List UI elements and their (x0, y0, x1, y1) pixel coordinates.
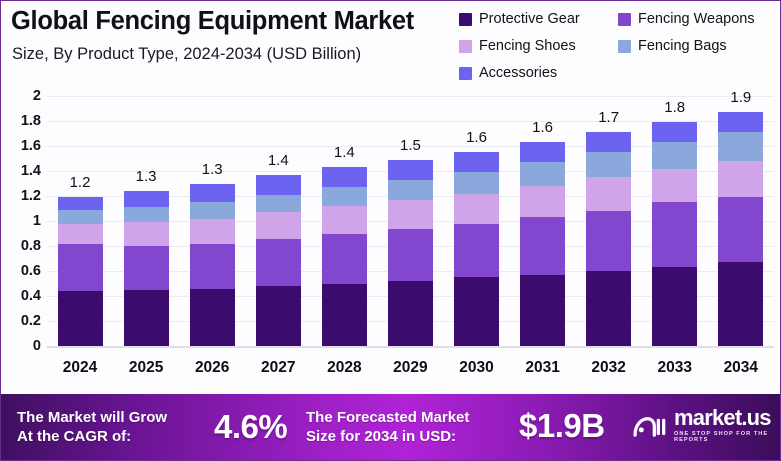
y-axis-tick-label: 0.8 (21, 238, 41, 254)
bar-stack (520, 142, 565, 346)
bar-segment[interactable] (652, 267, 697, 346)
bar-segment[interactable] (718, 197, 763, 262)
bar-segment[interactable] (124, 191, 169, 207)
bar-value-label: 1.4 (247, 152, 309, 169)
bar-segment[interactable] (256, 175, 301, 195)
bar-value-label: 1.2 (49, 174, 111, 191)
y-axis-tick-label: 0 (33, 338, 41, 354)
bar-value-label: 1.6 (446, 129, 508, 146)
chart-header: Global Fencing Equipment Market Size, By… (1, 1, 781, 93)
legend-item[interactable]: Fencing Weapons (618, 11, 777, 27)
bar-segment[interactable] (388, 229, 433, 282)
y-axis-tick-label: 1 (33, 213, 41, 229)
bar-segment[interactable] (124, 222, 169, 246)
cagr-caption-line1: The Market will Grow (17, 408, 167, 427)
bar-segment[interactable] (652, 202, 697, 267)
bar-segment[interactable] (58, 197, 103, 210)
bar-segment[interactable] (718, 112, 763, 132)
y-axis-tick-label: 0.6 (21, 263, 41, 279)
x-axis-tick-label: 2026 (181, 350, 243, 384)
y-axis-tick-label: 0.2 (21, 313, 41, 329)
bar-segment[interactable] (388, 160, 433, 180)
bar-segment[interactable] (520, 217, 565, 275)
x-axis-tick-label: 2033 (644, 350, 706, 384)
x-axis-tick-label: 2029 (379, 350, 441, 384)
brand-name: market.us (674, 407, 781, 429)
bar-segment[interactable] (322, 284, 367, 347)
bar-value-label: 1.3 (181, 161, 243, 178)
bar-value-label: 1.4 (313, 144, 375, 161)
bar-segment[interactable] (190, 244, 235, 289)
market-us-mark-icon (633, 412, 666, 439)
bar-segment[interactable] (718, 262, 763, 346)
bar-segment[interactable] (520, 275, 565, 346)
bar-stack (322, 167, 367, 346)
bar-group[interactable]: 1.7 (578, 96, 640, 346)
chart-plot-area: 21.81.61.41.210.80.60.40.20 1.21.31.31.4… (1, 96, 781, 391)
bar-segment[interactable] (124, 246, 169, 290)
bar-value-label: 1.6 (512, 119, 574, 136)
bar-segment[interactable] (58, 244, 103, 292)
bar-segment[interactable] (256, 212, 301, 238)
bar-stack (124, 191, 169, 346)
legend-item[interactable]: Accessories (459, 65, 618, 81)
bar-segment[interactable] (388, 281, 433, 346)
bar-group[interactable]: 1.9 (710, 96, 772, 346)
x-axis-tick-label: 2027 (247, 350, 309, 384)
brand-text: market.us ONE STOP SHOP FOR THE REPORTS (674, 407, 781, 443)
bar-stack (586, 132, 631, 346)
bar-series-container: 1.21.31.31.41.41.51.61.61.71.81.9 (47, 96, 774, 346)
page-title: Global Fencing Equipment Market (11, 7, 414, 36)
legend-swatch-icon (618, 13, 631, 26)
bar-stack (652, 122, 697, 346)
bar-group[interactable]: 1.2 (49, 96, 111, 346)
bar-segment[interactable] (124, 290, 169, 346)
bar-stack (58, 197, 103, 346)
bar-group[interactable]: 1.5 (379, 96, 441, 346)
bar-value-label: 1.9 (710, 89, 772, 106)
bar-stack (718, 112, 763, 346)
legend-swatch-icon (618, 40, 631, 53)
y-axis-tick-label: 1.2 (21, 188, 41, 204)
bar-group[interactable]: 1.4 (247, 96, 309, 346)
y-axis-tick-label: 2 (33, 88, 41, 104)
bar-segment[interactable] (718, 132, 763, 161)
bar-segment[interactable] (190, 289, 235, 347)
bar-group[interactable]: 1.6 (446, 96, 508, 346)
bar-value-label: 1.8 (644, 99, 706, 116)
forecast-caption: The Forecasted Market Size for 2034 in U… (306, 408, 469, 446)
x-axis: 2024202520262027202820292030203120322033… (47, 350, 774, 384)
legend-item-label: Protective Gear (479, 11, 580, 27)
bar-group[interactable]: 1.4 (313, 96, 375, 346)
bar-value-label: 1.3 (115, 168, 177, 185)
bar-segment[interactable] (454, 224, 499, 278)
legend-swatch-icon (459, 67, 472, 80)
legend-item-label: Accessories (479, 65, 557, 81)
x-axis-tick-label: 2025 (115, 350, 177, 384)
bar-segment[interactable] (586, 152, 631, 177)
chart-legend: Protective GearFencing WeaponsFencing Sh… (459, 11, 777, 81)
forecast-caption-line1: The Forecasted Market (306, 408, 469, 427)
bar-segment[interactable] (454, 172, 499, 193)
bar-segment[interactable] (256, 239, 301, 287)
brand-logo: market.us ONE STOP SHOP FOR THE REPORTS (633, 407, 781, 443)
bar-value-label: 1.5 (379, 137, 441, 154)
x-axis-tick-label: 2031 (512, 350, 574, 384)
y-axis-tick-label: 1.8 (21, 113, 41, 129)
y-axis: 21.81.61.41.210.80.60.40.20 (1, 96, 45, 346)
bar-value-label: 1.7 (578, 109, 640, 126)
legend-item[interactable]: Protective Gear (459, 11, 618, 27)
bar-segment[interactable] (322, 167, 367, 187)
x-axis-tick-label: 2030 (446, 350, 508, 384)
bar-group[interactable]: 1.3 (181, 96, 243, 346)
bar-segment[interactable] (190, 184, 235, 203)
bar-segment[interactable] (586, 177, 631, 211)
y-axis-tick-label: 0.4 (21, 288, 41, 304)
bar-segment[interactable] (586, 211, 631, 271)
bar-segment[interactable] (520, 186, 565, 217)
bar-segment[interactable] (124, 207, 169, 222)
bar-group[interactable]: 1.8 (644, 96, 706, 346)
bar-stack (190, 184, 235, 347)
bar-segment[interactable] (454, 152, 499, 172)
bar-segment[interactable] (322, 206, 367, 234)
cagr-caption-line2: At the CAGR of: (17, 427, 167, 446)
legend-swatch-icon (459, 13, 472, 26)
bar-group[interactable]: 1.3 (115, 96, 177, 346)
x-axis-tick-label: 2028 (313, 350, 375, 384)
bar-segment[interactable] (586, 271, 631, 346)
bar-segment[interactable] (256, 195, 301, 213)
bar-segment[interactable] (520, 142, 565, 162)
y-axis-tick-label: 1.4 (21, 163, 41, 179)
bar-segment[interactable] (190, 219, 235, 244)
chart-subtitle: Size, By Product Type, 2024-2034 (USD Bi… (12, 45, 361, 64)
x-axis-tick-label: 2024 (49, 350, 111, 384)
x-axis-tick-label: 2032 (578, 350, 640, 384)
bar-stack (256, 175, 301, 346)
bar-segment[interactable] (322, 234, 367, 284)
cagr-value: 4.6% (214, 408, 287, 446)
bar-stack (454, 152, 499, 346)
bar-segment[interactable] (388, 200, 433, 229)
bar-segment[interactable] (586, 132, 631, 152)
bar-segment[interactable] (652, 169, 697, 203)
footer-banner: The Market will Grow At the CAGR of: 4.6… (1, 394, 781, 460)
bar-segment[interactable] (322, 187, 367, 206)
legend-item-label: Fencing Weapons (638, 11, 755, 27)
y-axis-tick-label: 1.6 (21, 138, 41, 154)
x-axis-tick-label: 2034 (710, 350, 772, 384)
bar-group[interactable]: 1.6 (512, 96, 574, 346)
legend-item[interactable]: Fencing Shoes (459, 38, 618, 54)
x-axis-baseline (47, 346, 774, 348)
bar-segment[interactable] (454, 277, 499, 346)
chart-card: Global Fencing Equipment Market Size, By… (0, 0, 781, 461)
bar-segment[interactable] (58, 210, 103, 224)
cagr-caption: The Market will Grow At the CAGR of: (17, 408, 167, 446)
bar-segment[interactable] (190, 202, 235, 218)
brand-tagline: ONE STOP SHOP FOR THE REPORTS (674, 432, 781, 443)
bar-segment[interactable] (454, 194, 499, 224)
forecast-caption-line2: Size for 2034 in USD: (306, 427, 469, 446)
legend-item[interactable]: Fencing Bags (618, 38, 777, 54)
legend-item-label: Fencing Shoes (479, 38, 576, 54)
bar-segment[interactable] (718, 161, 763, 197)
legend-swatch-icon (459, 40, 472, 53)
bar-segment[interactable] (256, 286, 301, 346)
legend-item-label: Fencing Bags (638, 38, 727, 54)
forecast-value: $1.9B (519, 407, 605, 445)
bar-segment[interactable] (58, 224, 103, 244)
bar-segment[interactable] (58, 291, 103, 346)
bar-segment[interactable] (388, 180, 433, 200)
bar-segment[interactable] (652, 142, 697, 168)
bar-stack (388, 160, 433, 346)
bar-segment[interactable] (652, 122, 697, 142)
bar-segment[interactable] (520, 162, 565, 186)
